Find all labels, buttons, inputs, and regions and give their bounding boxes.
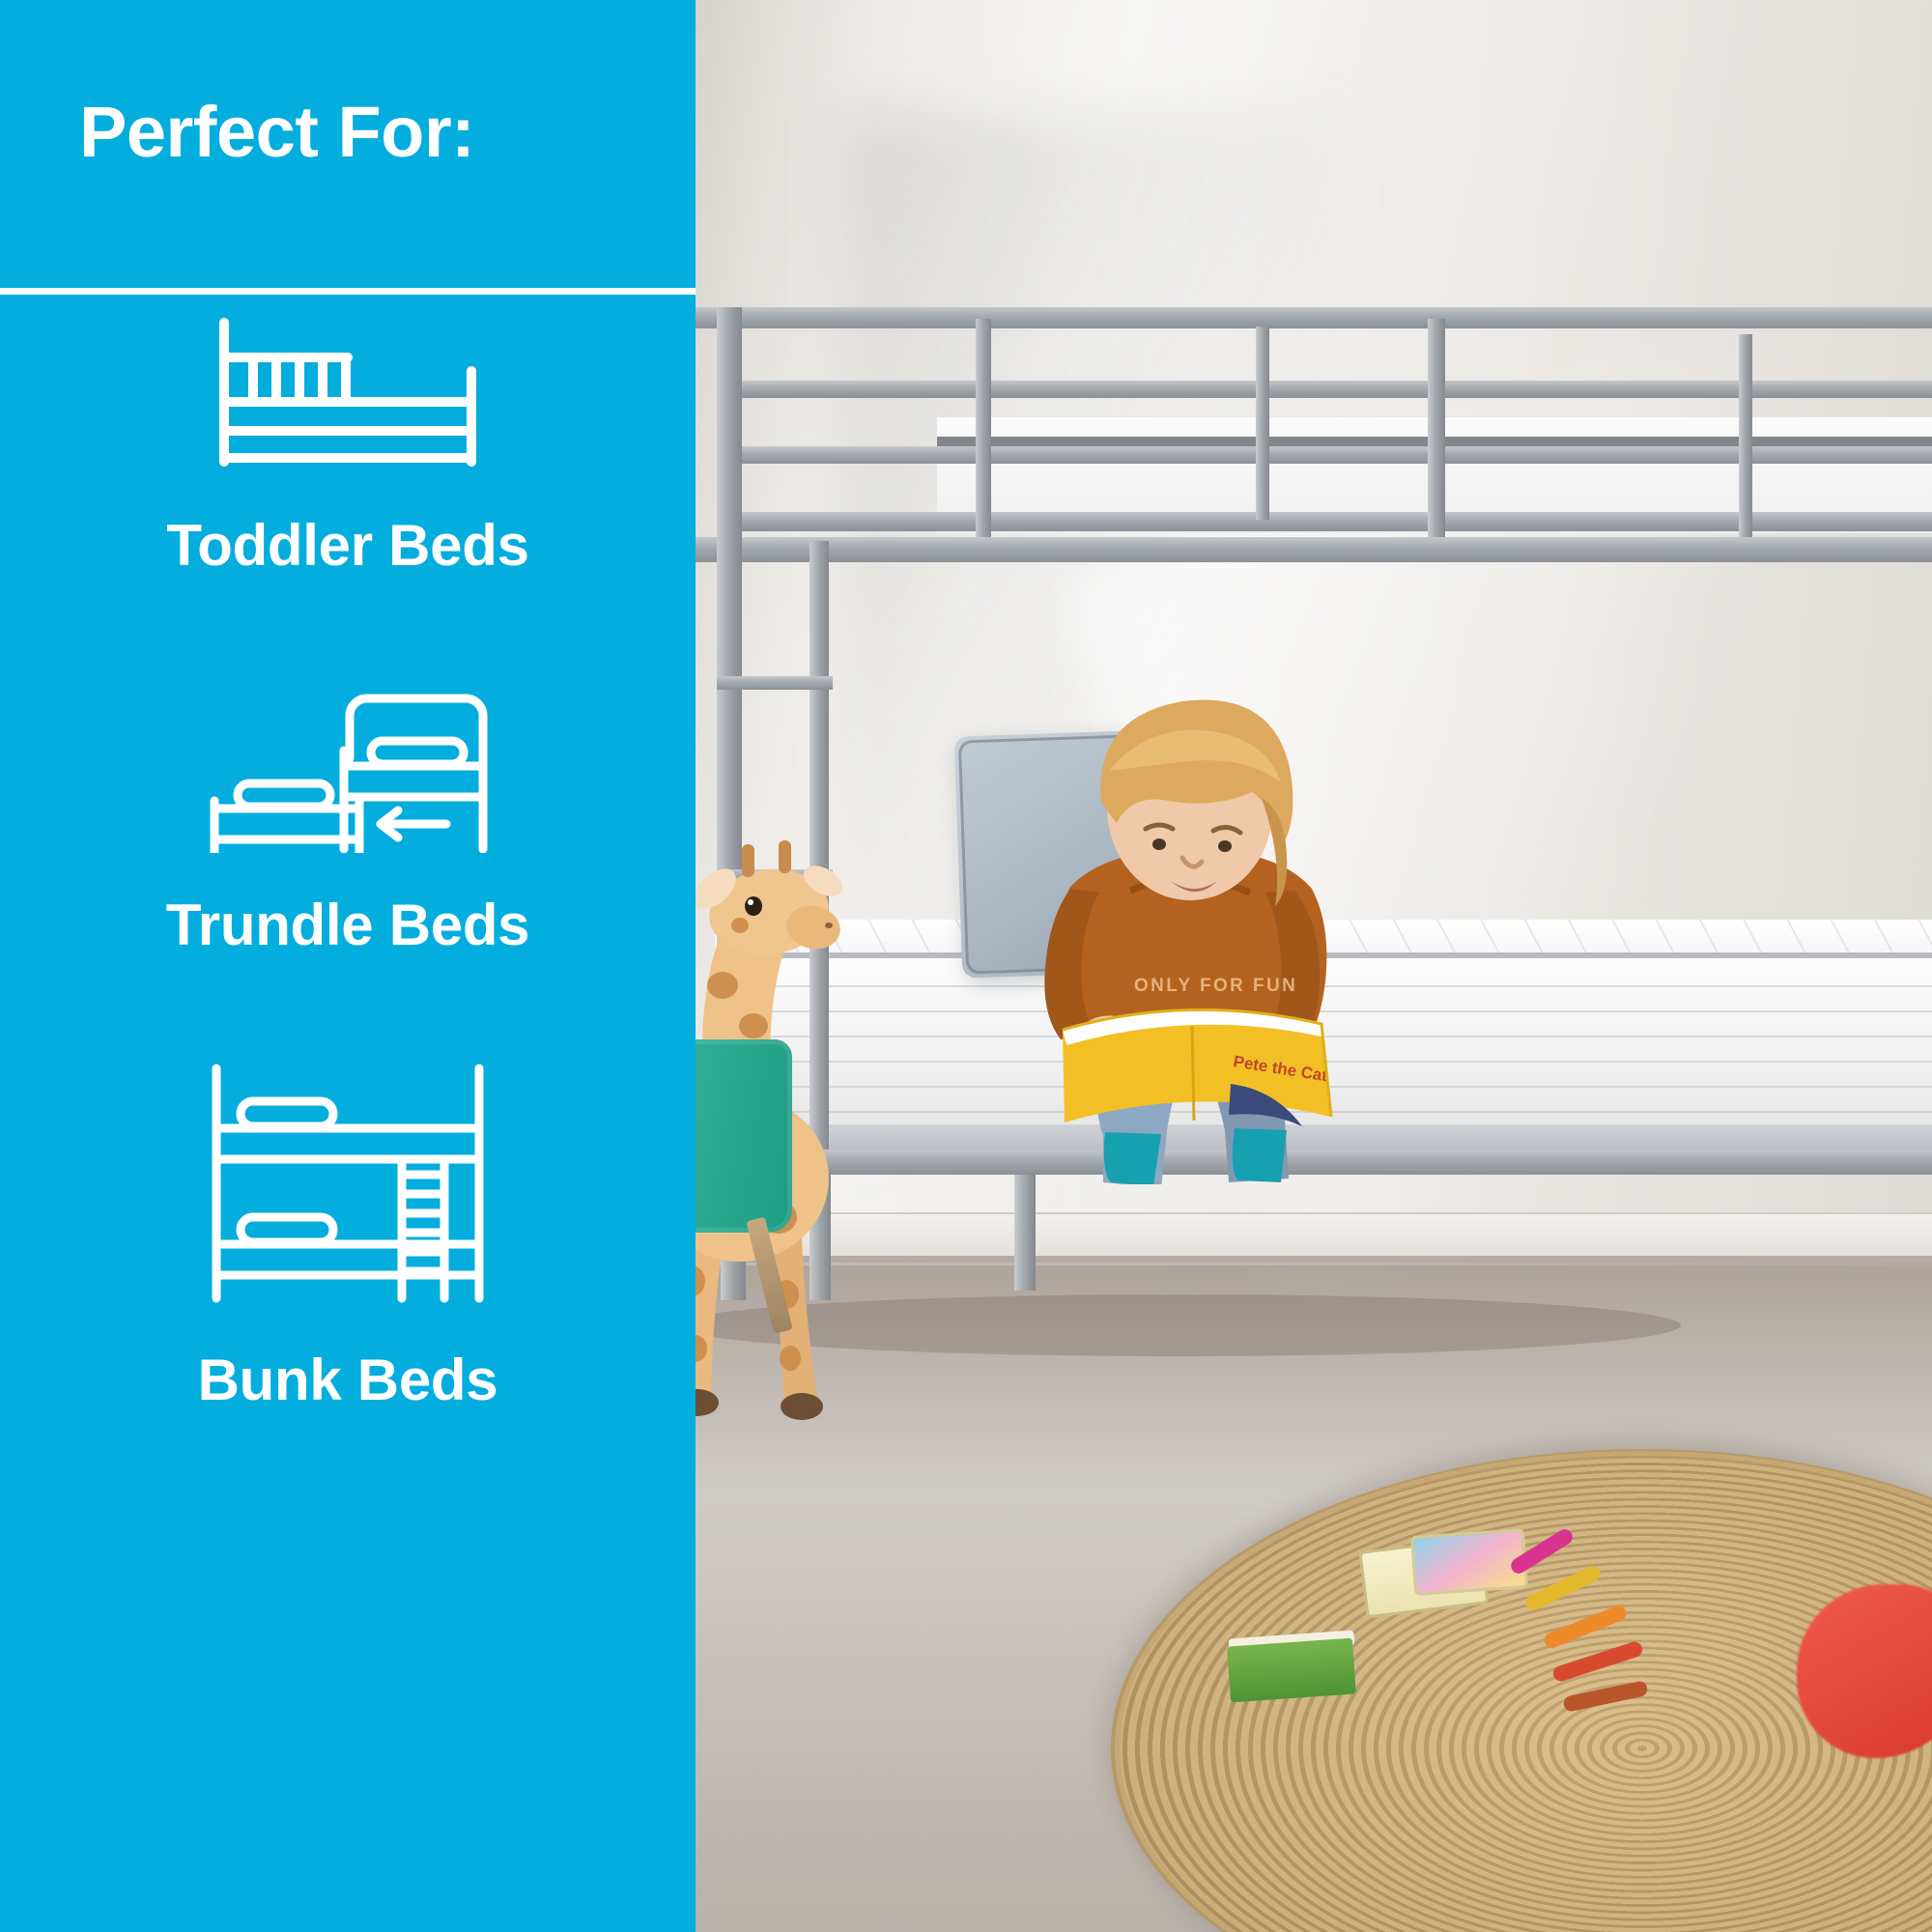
lifestyle-photo: ONLY FOR FUN Pete the Cat bbox=[696, 0, 1932, 1932]
promo-image-root: Perfect For: bbox=[0, 0, 1932, 1932]
child-reading: ONLY FOR FUN Pete the Cat bbox=[954, 682, 1457, 1184]
feature-label-bunk-beds: Bunk Beds bbox=[198, 1347, 498, 1413]
feature-item-bunk-beds: Bunk Beds bbox=[0, 1063, 696, 1413]
feature-item-trundle-beds: Trundle Beds bbox=[0, 679, 696, 958]
page-title: Perfect For: bbox=[79, 95, 474, 170]
feature-label-toddler-beds: Toddler Beds bbox=[166, 512, 528, 579]
teal-ottoman bbox=[696, 1039, 792, 1233]
sweatshirt-text: ONLY FOR FUN bbox=[1134, 976, 1297, 996]
bunk-bed-icon bbox=[203, 1063, 493, 1304]
green-book bbox=[1227, 1638, 1356, 1703]
feature-item-toddler-beds: Toddler Beds bbox=[0, 317, 696, 579]
picture-book: Pete the Cat bbox=[1063, 1009, 1331, 1126]
trundle-bed-icon bbox=[193, 679, 502, 853]
title-divider bbox=[0, 288, 696, 295]
feature-label-trundle-beds: Trundle Beds bbox=[166, 892, 529, 958]
feature-list: Toddler Beds bbox=[0, 307, 696, 1413]
perfect-for-panel: Perfect For: bbox=[0, 0, 696, 1932]
toddler-bed-icon bbox=[203, 317, 493, 471]
